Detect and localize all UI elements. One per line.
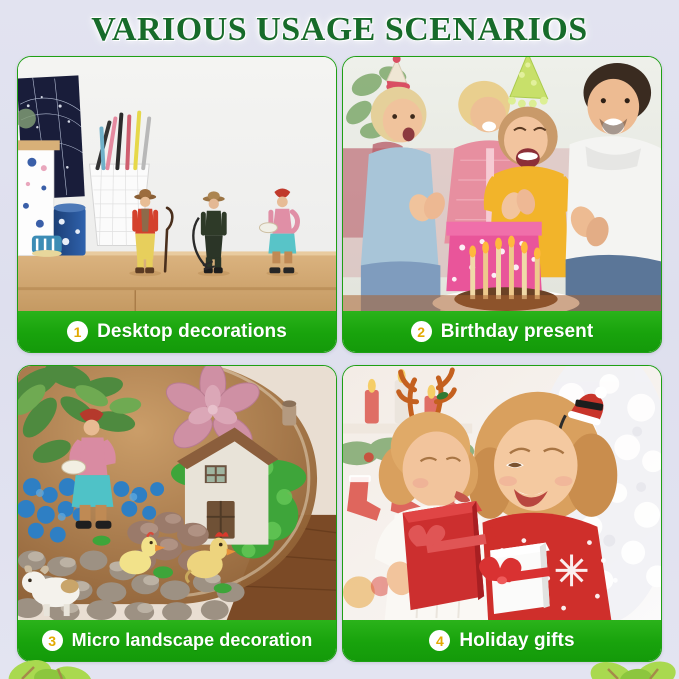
page-title: VARIOUS USAGE SCENARIOS: [91, 11, 587, 49]
scenario-card-1[interactable]: 1 Desktop decorations: [17, 56, 337, 353]
caption-bar-4: 4 Holiday gifts: [343, 620, 661, 661]
caption-bar-1: 1 Desktop decorations: [18, 311, 336, 352]
caption-label-2: Birthday present: [441, 321, 594, 343]
step-number-badge-4: 4: [429, 630, 450, 651]
scenario-photo-birthday-present: [343, 57, 661, 311]
scenario-photo-micro-landscape: [18, 366, 336, 620]
page-title-container: VARIOUS USAGE SCENARIOS: [0, 6, 679, 54]
birthday-party-illustration: [343, 57, 661, 311]
caption-bar-2: 2 Birthday present: [343, 311, 661, 352]
caption-label-3: Micro landscape decoration: [72, 630, 313, 651]
step-number-badge-1: 1: [67, 321, 88, 342]
step-number-badge-2: 2: [411, 321, 432, 342]
infographic-page: VARIOUS USAGE SCENARIOS: [0, 0, 679, 679]
caption-bar-3: 3 Micro landscape decoration: [18, 620, 336, 661]
scenario-photo-desktop-decorations: [18, 57, 336, 311]
scenario-card-2[interactable]: 2 Birthday present: [342, 56, 662, 353]
terrarium-illustration: [18, 366, 336, 620]
scenario-grid: 1 Desktop decorations: [17, 56, 662, 670]
caption-label-4: Holiday gifts: [459, 630, 574, 652]
scenario-photo-holiday-gifts: [343, 366, 661, 620]
desk-scene-illustration: [18, 57, 336, 311]
caption-label-1: Desktop decorations: [97, 321, 287, 343]
scenario-card-3[interactable]: 3 Micro landscape decoration: [17, 365, 337, 662]
christmas-illustration: [343, 366, 661, 620]
step-number-badge-3: 3: [42, 630, 63, 651]
scenario-card-4[interactable]: 4 Holiday gifts: [342, 365, 662, 662]
